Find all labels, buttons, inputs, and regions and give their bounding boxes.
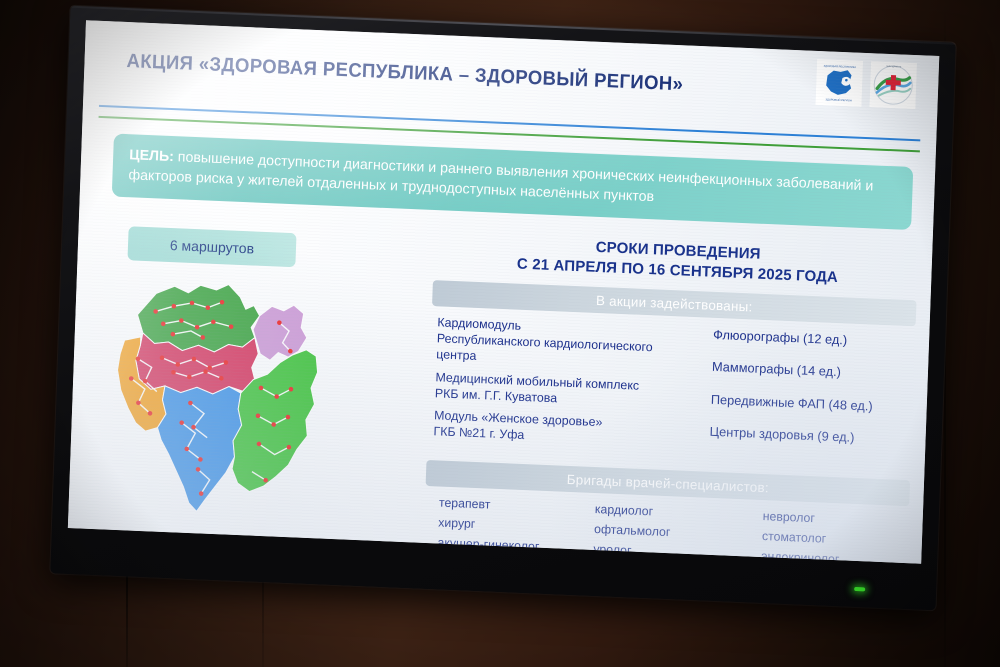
list-item: Передвижные ФАП (48 ед.): [711, 391, 913, 415]
section-header-involved-label: В акции задействованы:: [596, 292, 753, 314]
zdorovaya-respublika-logo: ЗДОРОВАЯ РЕСПУБЛИКА ЗДОРОВЫЙ РЕГИОН: [815, 59, 863, 107]
list-item: Флюорографы (12 ед.): [713, 327, 915, 351]
wall-mounted-display: АКЦИЯ «ЗДОРОВАЯ РЕСПУБЛИКА – ЗДОРОВЫЙ РЕ…: [50, 6, 956, 611]
goal-label: ЦЕЛЬ:: [129, 147, 174, 165]
map-zone-southwest: [155, 384, 243, 513]
list-item: Медицинский мобильный комплекс РКБ им. Г…: [435, 370, 686, 412]
involved-equipment-column: Флюорографы (12 ед.) Маммографы (14 ед.)…: [683, 326, 916, 470]
section-header-brigades-label: Бригады врачей-специалистов:: [567, 471, 770, 494]
ministry-health-logo: МИНЗДРАВ РБ: [869, 61, 917, 109]
logo-group: ЗДОРОВАЯ РЕСПУБЛИКА ЗДОРОВЫЙ РЕГИОН: [815, 59, 917, 109]
display-screen: АКЦИЯ «ЗДОРОВАЯ РЕСПУБЛИКА – ЗДОРОВЫЙ РЕ…: [68, 20, 939, 563]
goal-text: повышение доступности диагностики и ранн…: [128, 149, 873, 205]
list-item: Центры здоровья (9 ед.): [709, 424, 911, 448]
room-scene: АКЦИЯ «ЗДОРОВАЯ РЕСПУБЛИКА – ЗДОРОВЫЙ РЕ…: [0, 0, 1000, 667]
specialists-column-3: невролог стоматолог эндокринолог: [738, 506, 909, 564]
bashkortostan-routes-map: [96, 269, 355, 527]
page-title: АКЦИЯ «ЗДОРОВАЯ РЕСПУБЛИКА – ЗДОРОВЫЙ РЕ…: [126, 50, 683, 96]
map-zone-north: [136, 281, 260, 354]
goal-banner: ЦЕЛЬ: повышение доступности диагностики …: [112, 134, 914, 231]
involved-mobile-units-column: Кардиомодуль Республиканского кардиологи…: [433, 315, 688, 460]
routes-count-badge: 6 маршрутов: [127, 226, 296, 267]
presentation-slide: АКЦИЯ «ЗДОРОВАЯ РЕСПУБЛИКА – ЗДОРОВЫЙ РЕ…: [68, 20, 939, 563]
power-led-indicator: [854, 587, 865, 591]
list-item: Кардиомодуль Республиканского кардиологи…: [436, 315, 687, 373]
list-item: Модуль «Женское здоровье» ГКБ №21 г. Уфа: [433, 409, 684, 451]
routes-count-label: 6 маршрутов: [170, 237, 255, 257]
involved-lists: Кардиомодуль Республиканского кардиологи…: [433, 315, 915, 470]
list-item: Маммографы (14 ед.): [712, 359, 914, 383]
